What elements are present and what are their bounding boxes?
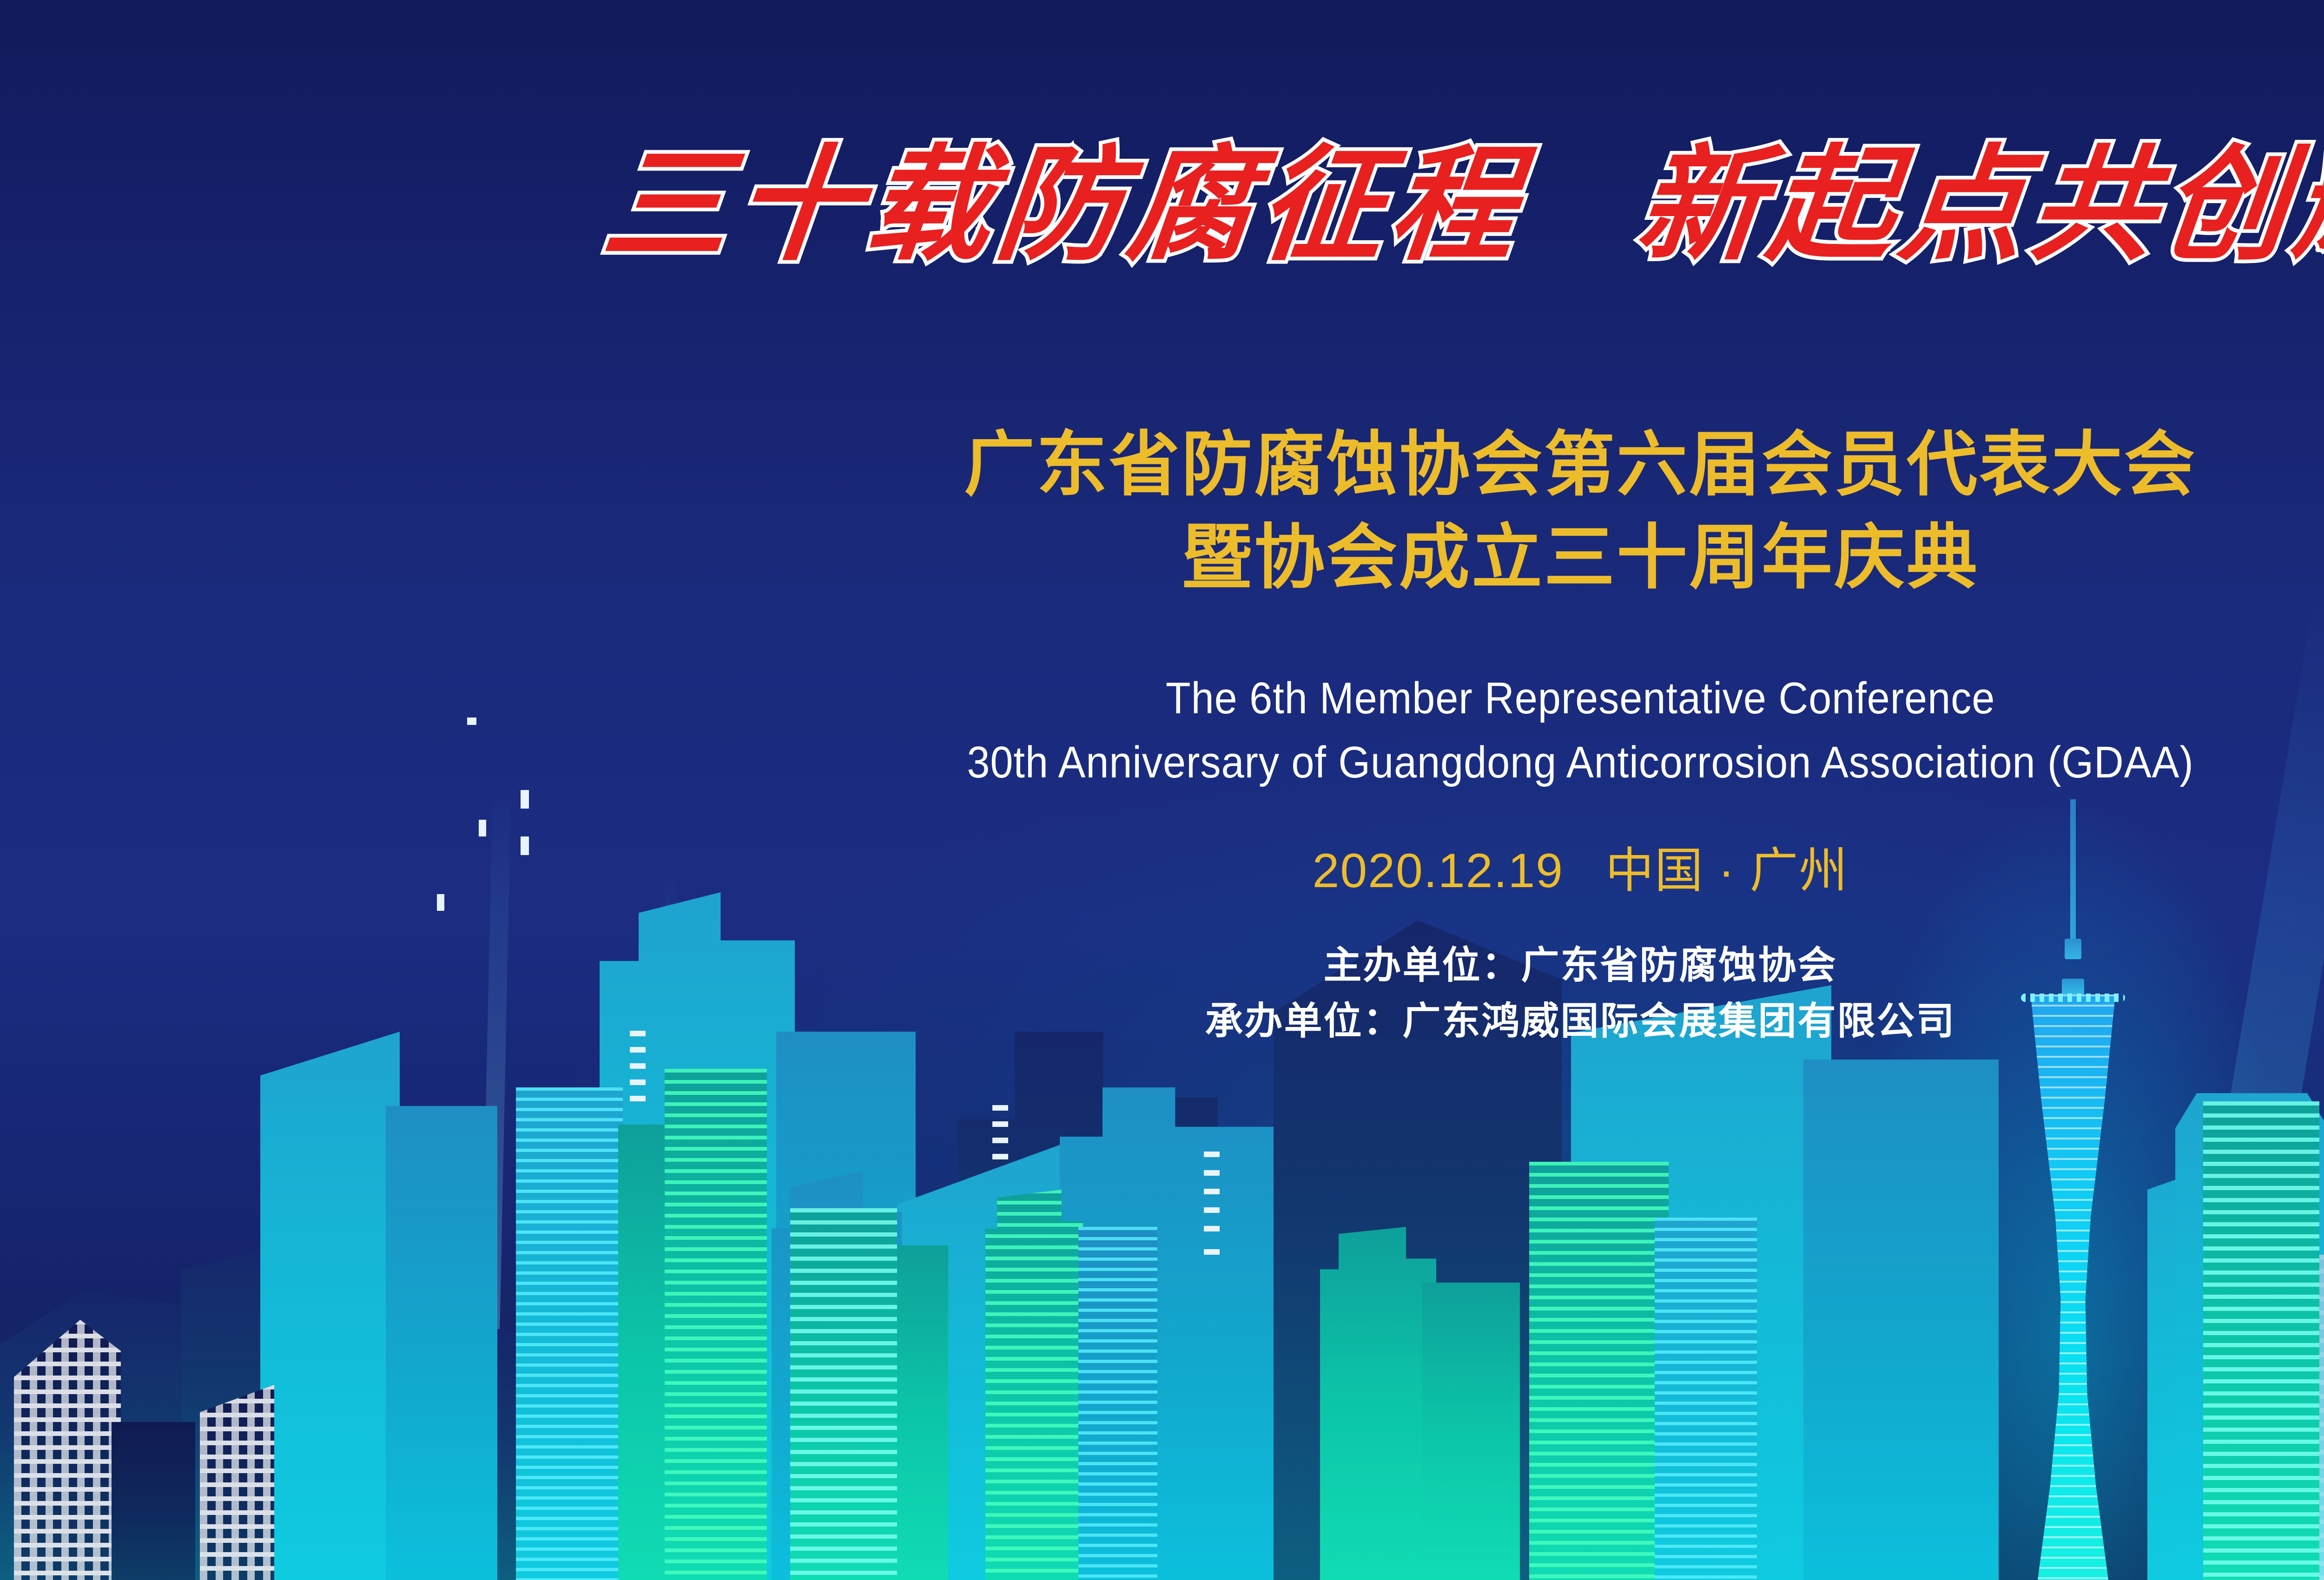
- headline-group-1: 三十载防腐征程: [598, 139, 1529, 270]
- event-location: 中国 · 广州: [1605, 844, 1848, 898]
- host-organization: 主办单位：广东省防腐蚀协会: [0, 934, 2324, 989]
- headline-group-2: 新起点共创辉煌: [1631, 139, 2324, 270]
- event-date-location: 2020.12.19中国 · 广州: [0, 831, 2324, 901]
- chinese-title-line-2: 暨协会成立三十周年庆典: [0, 500, 2324, 602]
- organizing-company: 承办单位：广东鸿威国际会展集团有限公司: [0, 990, 2324, 1045]
- banner-headline: 三十载防腐征程新起点共创辉煌: [0, 139, 2324, 270]
- event-date: 2020.12.19: [1313, 844, 1564, 898]
- english-subtitle-line-2: 30th Anniversary of Guangdong Anticorros…: [126, 737, 2324, 788]
- chinese-title-line-1: 广东省防腐蚀协会第六届会员代表大会: [0, 407, 2324, 509]
- english-subtitle-line-1: The 6th Member Representative Conference: [126, 673, 2324, 724]
- conference-banner: 三十载防腐征程新起点共创辉煌 广东省防腐蚀协会第六届会员代表大会 暨协会成立三十…: [0, 0, 2324, 1580]
